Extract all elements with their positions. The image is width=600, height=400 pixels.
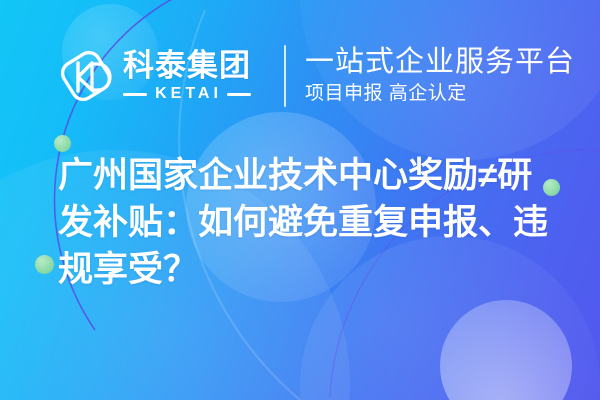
ketai-kd-monogram-icon	[58, 47, 114, 105]
brand-name-en-row: KETAI	[123, 86, 251, 102]
brand-wordmark: 科泰集团 KETAI	[123, 50, 251, 102]
banner-header: 科泰集团 KETAI 一站式企业服务平台 项目申报 高企认定	[0, 38, 600, 114]
headline-text: 广州国家企业技术中心奖励≠研发补贴：如何避免重复申报、违规享受？	[58, 152, 558, 293]
header-divider	[284, 45, 286, 107]
header-tagline: 一站式企业服务平台 项目申报 高企认定	[305, 38, 575, 114]
wordmark-rule-right	[227, 93, 251, 96]
decorative-green-dot	[54, 135, 71, 152]
brand-name-en: KETAI	[152, 86, 222, 102]
decorative-circle-bottom-right	[440, 300, 572, 400]
promo-banner: 科泰集团 KETAI 一站式企业服务平台 项目申报 高企认定 广州国家企业技术中…	[0, 0, 600, 400]
decorative-green-dot	[35, 255, 54, 274]
tagline-secondary: 项目申报 高企认定	[305, 82, 575, 106]
tagline-primary: 一站式企业服务平台	[305, 46, 575, 78]
brand-logo: 科泰集团 KETAI	[58, 38, 251, 114]
brand-name-cn: 科泰集团	[123, 50, 251, 81]
wordmark-rule-left	[123, 93, 147, 96]
